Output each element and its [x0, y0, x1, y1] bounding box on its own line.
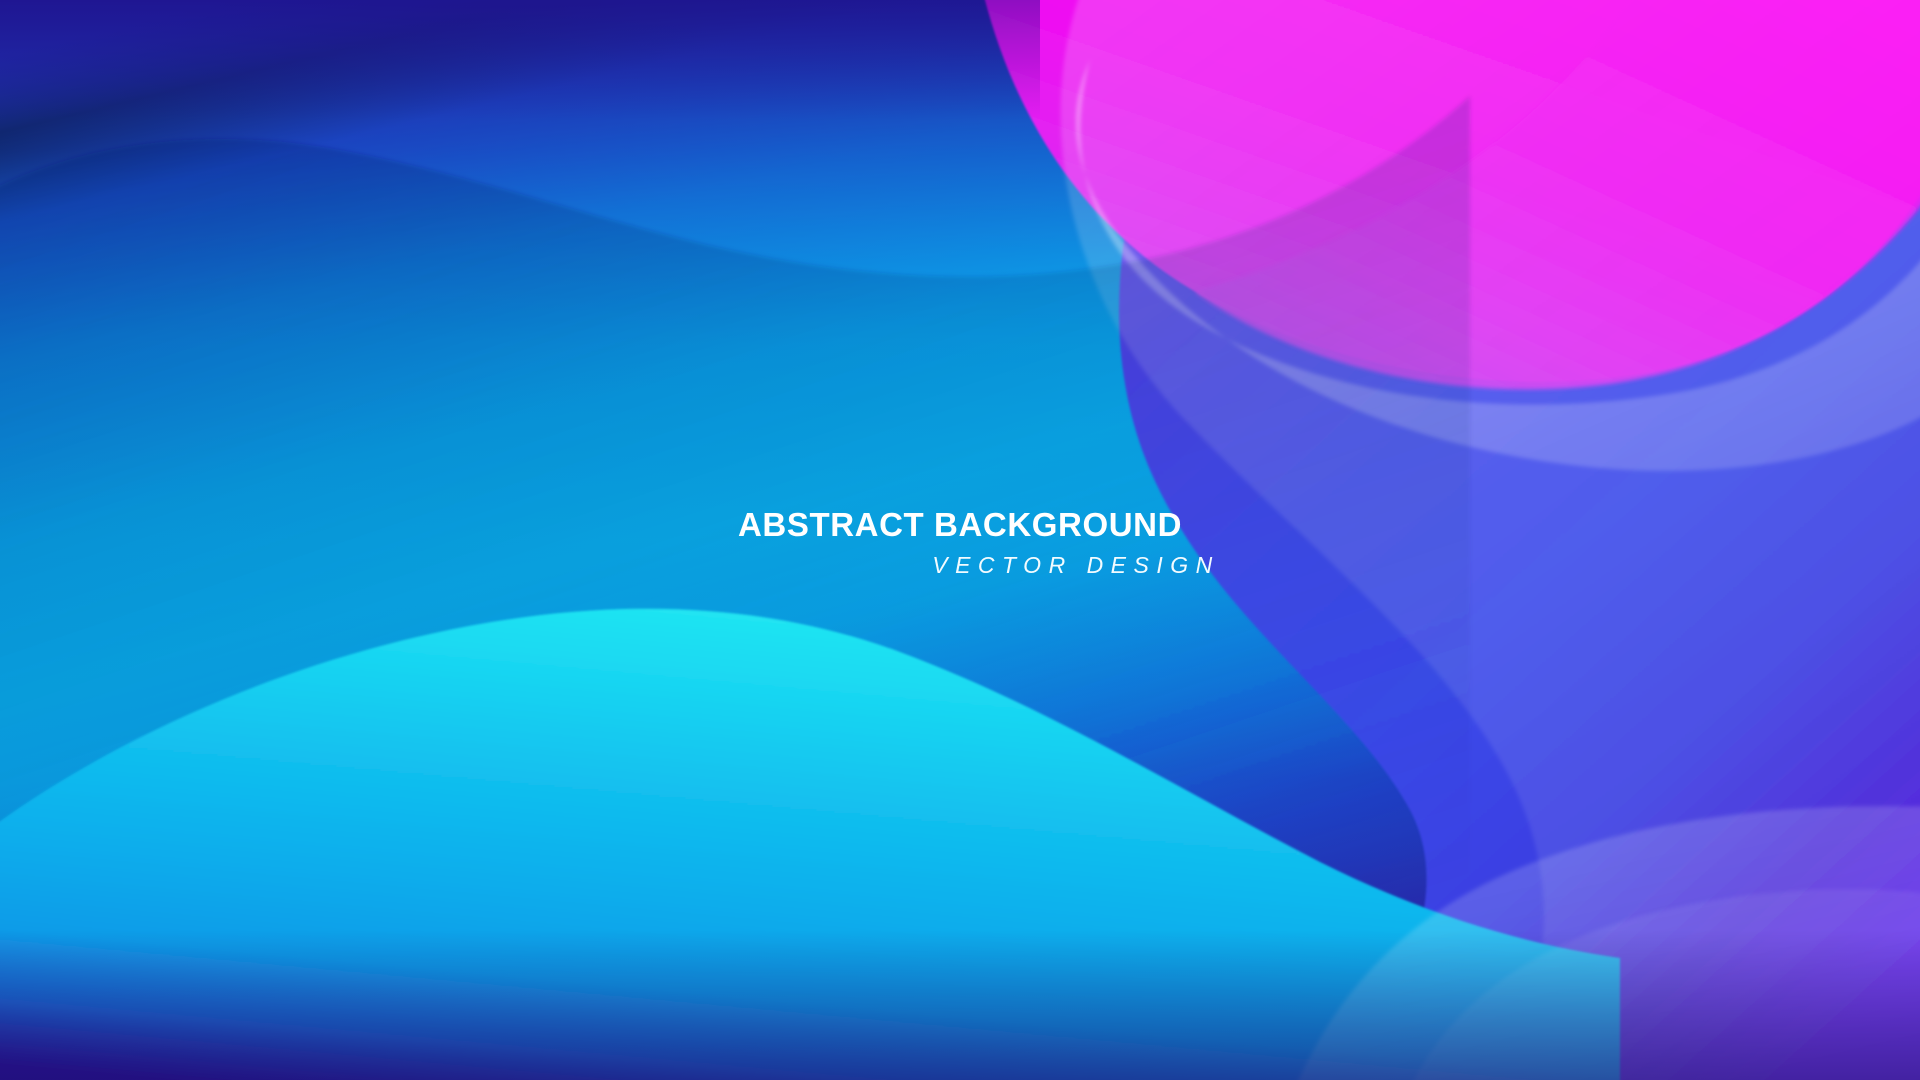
- background-artwork: [0, 0, 1920, 1080]
- top-vignette-fill: [0, 0, 1040, 120]
- abstract-background-canvas: ABSTRACT BACKGROUND VECTOR DESIGN: [0, 0, 1920, 1080]
- bottom-vignette-fill: [0, 930, 1920, 1080]
